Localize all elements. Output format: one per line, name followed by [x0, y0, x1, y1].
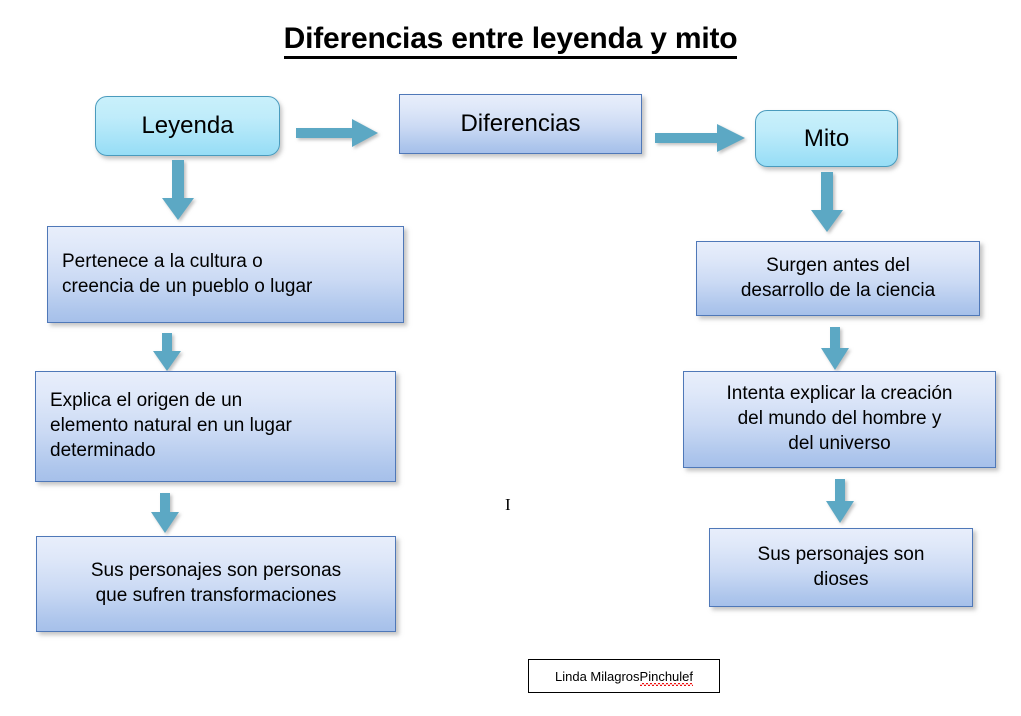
box-right-1[interactable]: Surgen antes del desarrollo de la cienci… [696, 241, 980, 316]
box-right-2[interactable]: Intenta explicar la creación del mundo d… [683, 371, 996, 468]
arrow-left-2-down [150, 493, 182, 535]
node-leyenda[interactable]: Leyenda [95, 96, 280, 156]
box-left-2-text: Explica el origen de un elemento natural… [50, 389, 292, 463]
box-right-2-text: Intenta explicar la creación del mundo d… [726, 382, 952, 456]
diagram-canvas: Diferencias entre leyenda y mito Leyenda… [0, 0, 1021, 716]
page-title: Diferencias entre leyenda y mito [0, 22, 1021, 56]
node-mito-label: Mito [804, 125, 849, 153]
box-left-3-text: Sus personajes son personas que sufren t… [91, 559, 341, 608]
box-right-1-text: Surgen antes del desarrollo de la cienci… [741, 254, 935, 303]
stray-text-caret: I [505, 496, 511, 513]
node-diferencias-label: Diferencias [460, 108, 580, 139]
box-left-1[interactable]: Pertenece a la cultura o creencia de un … [47, 226, 404, 323]
arrow-right-1-down [820, 327, 852, 372]
node-leyenda-label: Leyenda [141, 112, 233, 140]
credit-box[interactable]: Linda Milagros Pinchulef [528, 659, 720, 693]
credit-name-last: Pinchulef [640, 669, 693, 684]
box-left-3[interactable]: Sus personajes son personas que sufren t… [36, 536, 396, 632]
box-left-1-text: Pertenece a la cultura o creencia de un … [62, 250, 312, 299]
box-right-3[interactable]: Sus personajes son dioses [709, 528, 973, 607]
arrow-leyenda-to-diferencias [296, 117, 380, 149]
arrow-mito-down [810, 172, 846, 234]
arrow-leyenda-down [160, 160, 198, 222]
node-mito[interactable]: Mito [755, 110, 898, 167]
box-left-2[interactable]: Explica el origen de un elemento natural… [35, 371, 396, 482]
arrow-right-2-down [825, 479, 857, 525]
page-title-text: Diferencias entre leyenda y mito [284, 22, 738, 59]
arrow-diferencias-to-mito [655, 122, 747, 154]
node-diferencias[interactable]: Diferencias [399, 94, 642, 154]
credit-name-first: Linda Milagros [555, 669, 640, 684]
arrow-left-1-down [152, 333, 184, 373]
box-right-3-text: Sus personajes son dioses [758, 543, 925, 592]
